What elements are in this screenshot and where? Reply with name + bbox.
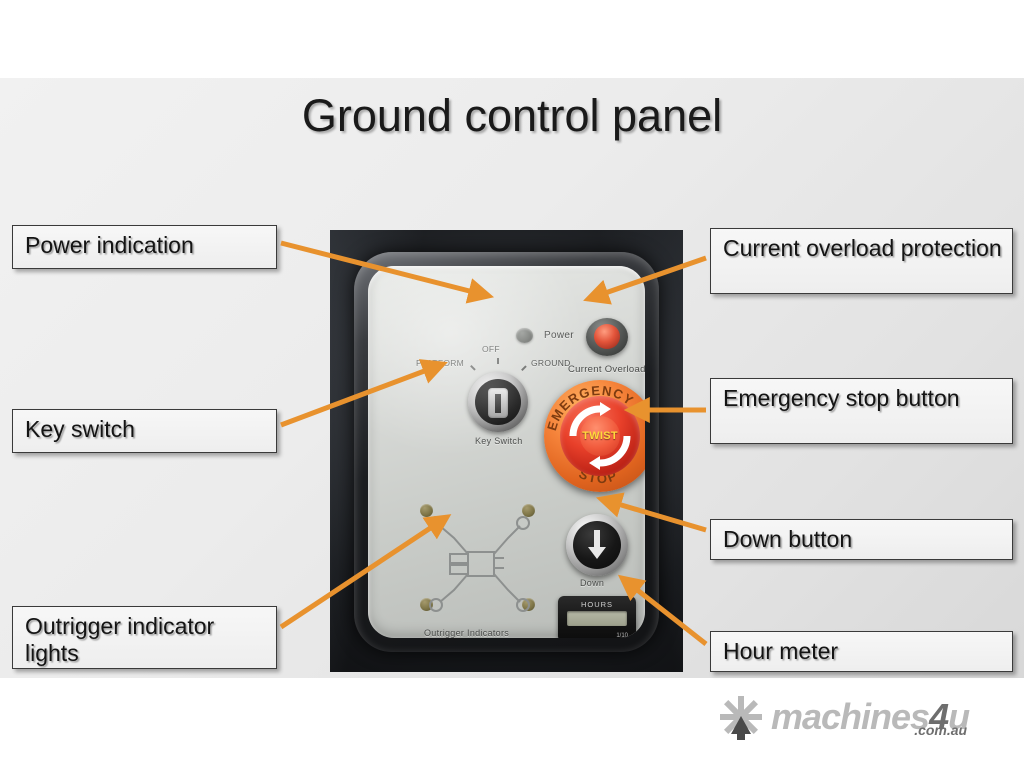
control-panel-photo: Power OFF PLATFORM GROUND Key Switch Cur… bbox=[330, 230, 683, 672]
key-switch-platform-label: PLATFORM bbox=[416, 358, 464, 368]
callout-emergency-stop-button: Emergency stop button bbox=[710, 378, 1013, 444]
emergency-stop-center: TWIST bbox=[580, 416, 620, 456]
hour-meter-title: HOURS bbox=[558, 600, 636, 609]
page-title: Ground control panel bbox=[0, 90, 1024, 142]
current-overload-label: Current Overload bbox=[568, 364, 645, 375]
hour-meter: HOURS 1/10 bbox=[558, 596, 636, 638]
key-switch[interactable] bbox=[468, 372, 528, 432]
down-button-label: Down bbox=[580, 578, 604, 588]
asterisk-star-icon bbox=[718, 694, 764, 740]
hour-meter-subscale: 1/10 bbox=[616, 633, 628, 638]
panel-face: Power OFF PLATFORM GROUND Key Switch Cur… bbox=[368, 266, 645, 638]
callout-outrigger-indicator-lights: Outrigger indicator lights bbox=[12, 606, 277, 669]
outrigger-caption: Outrigger Indicators bbox=[424, 628, 509, 638]
arrow-down-icon bbox=[587, 530, 607, 560]
key-switch-tick-off bbox=[497, 358, 499, 364]
power-label: Power bbox=[544, 330, 574, 341]
down-button[interactable] bbox=[566, 514, 628, 576]
outrigger-indicator-group bbox=[416, 502, 542, 626]
emergency-stop-button[interactable]: EMERGENCY STOP bbox=[544, 380, 645, 492]
power-indicator-led bbox=[516, 328, 533, 343]
callout-down-button: Down button bbox=[710, 519, 1013, 560]
key-switch-caption: Key Switch bbox=[475, 436, 523, 446]
key-switch-tick-ground bbox=[521, 365, 526, 370]
panel-bezel: Power OFF PLATFORM GROUND Key Switch Cur… bbox=[354, 252, 659, 652]
callout-power-indication: Power indication bbox=[12, 225, 277, 269]
emergency-stop-cap: TWIST bbox=[560, 396, 640, 476]
twist-label: TWIST bbox=[582, 430, 618, 442]
key-switch-ground-label: GROUND bbox=[531, 358, 571, 368]
hour-meter-display bbox=[567, 611, 627, 626]
logo-tld: .com.au bbox=[914, 722, 967, 738]
callout-key-switch: Key switch bbox=[12, 409, 277, 453]
logo-text: machines bbox=[771, 696, 929, 737]
current-overload-button[interactable] bbox=[586, 318, 628, 356]
callout-hour-meter: Hour meter bbox=[710, 631, 1013, 672]
slide-canvas: Ground control panel Power OFF PLATFORM … bbox=[0, 0, 1024, 768]
key-switch-tick-platform bbox=[470, 365, 475, 370]
callout-current-overload-protection: Current overload protection bbox=[710, 228, 1013, 294]
key-switch-off-label: OFF bbox=[482, 344, 500, 354]
key-blade-icon bbox=[495, 394, 501, 413]
machines4u-logo: machines4u .com.au bbox=[718, 694, 969, 740]
outrigger-machine-diagram bbox=[416, 502, 542, 626]
